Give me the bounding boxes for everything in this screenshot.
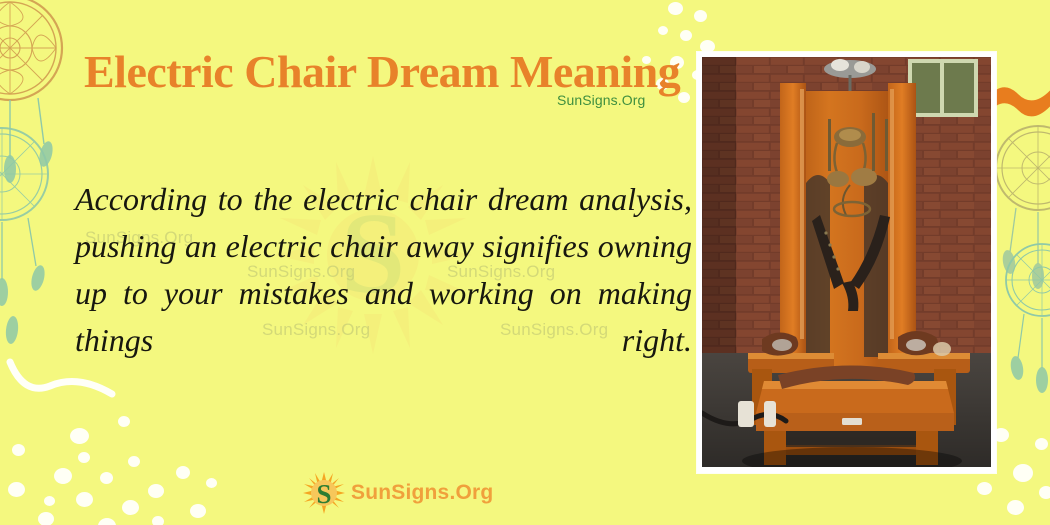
electric-chair-photo: [702, 57, 991, 467]
sunsigns-sun-logo-icon: S: [303, 472, 345, 514]
white-bokeh-dots-bottom-left: [0, 400, 230, 525]
logo-letter: S: [316, 479, 331, 509]
body-paragraph: According to the electric chair dream an…: [75, 176, 692, 411]
footer-brand-text: SunSigns.Org: [351, 481, 493, 505]
orange-wave-ribbon-icon: [988, 76, 1050, 126]
photo-frame: [697, 52, 996, 473]
poster-canvas: S SunSigns.Org SunSigns.Org SunSigns.Org…: [0, 0, 1050, 525]
dreamcatcher-right-olive-icon: [996, 120, 1050, 320]
page-title: Electric Chair Dream Meaning: [84, 46, 694, 98]
title-brand-watermark: SunSigns.Org: [557, 92, 645, 108]
dreamcatcher-right-lower-teal-icon: [1004, 240, 1050, 420]
footer-brand[interactable]: S SunSigns.Org: [303, 472, 493, 514]
